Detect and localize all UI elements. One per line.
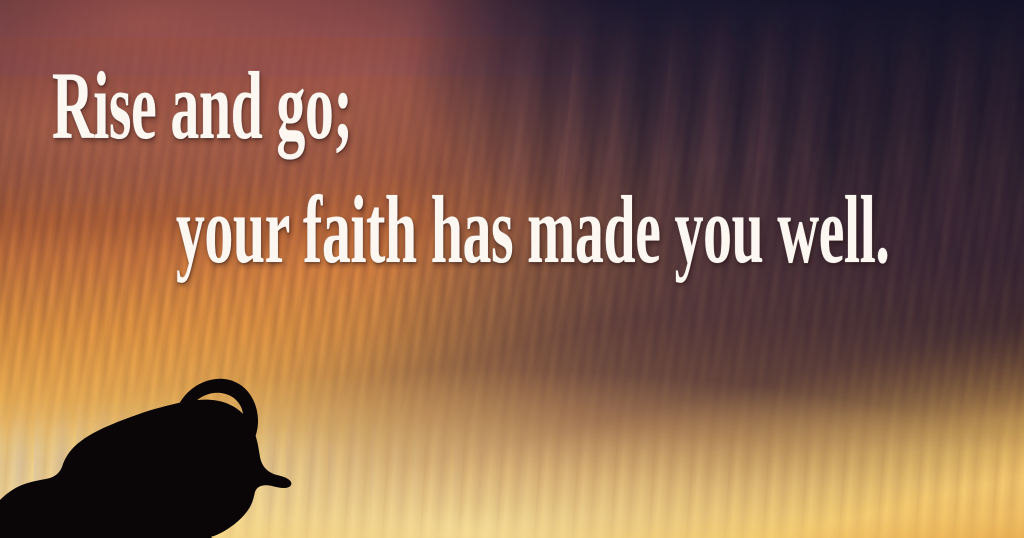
quote-line-1: Rise and go; bbox=[52, 58, 352, 154]
silhouette-shoulder-path bbox=[117, 404, 192, 453]
silhouette-svg bbox=[0, 368, 400, 538]
silhouette-body-path bbox=[0, 400, 291, 538]
silhouette-head-path bbox=[178, 379, 258, 460]
silhouette-lower-mass-path bbox=[0, 477, 212, 538]
poster-canvas: Rise and go; your faith has made you wel… bbox=[0, 0, 1024, 538]
quote-line-2: your faith has made you well. bbox=[176, 182, 889, 278]
praying-person-silhouette bbox=[0, 368, 400, 538]
